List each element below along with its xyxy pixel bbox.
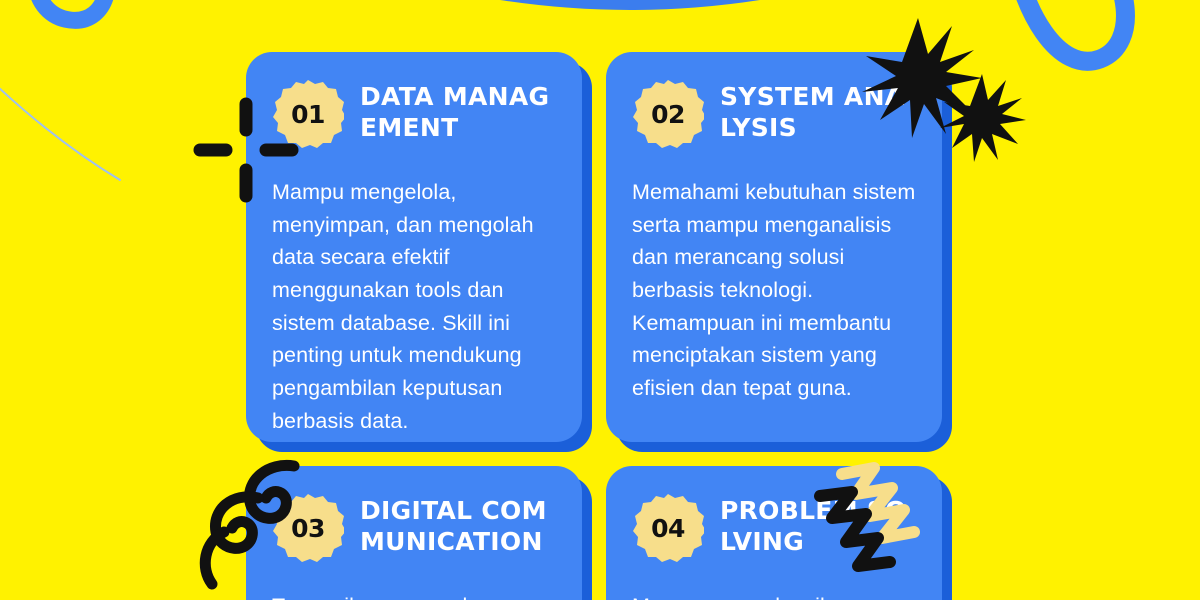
card-body-text: Terampil menggunakan — [272, 590, 556, 600]
number-badge: 02 — [632, 78, 704, 150]
card-number: 01 — [291, 100, 325, 129]
number-badge: 01 — [272, 78, 344, 150]
card-title: PROBLEM SOLVING — [720, 492, 916, 557]
skill-card-04[interactable]: 04 PROBLEM SOLVING Mampu menyelesaikan — [606, 466, 942, 600]
skill-card-03[interactable]: 03 DIGITAL COMMUNICATION Terampil menggu… — [246, 466, 582, 600]
card-header: 02 SYSTEM ANALYSIS — [632, 78, 916, 162]
thin-line-stroke-icon — [0, 30, 190, 190]
card-header: 01 DATA MANAGEMENT — [272, 78, 556, 162]
card-wrapper-03: 03 DIGITAL COMMUNICATION Terampil menggu… — [246, 466, 582, 600]
card-number: 02 — [651, 100, 685, 129]
number-badge: 03 — [272, 492, 344, 564]
card-body-text: Mampu menyelesaikan — [632, 590, 916, 600]
card-title: DATA MANAGEMENT — [360, 78, 556, 143]
card-wrapper-01: 01 DATA MANAGEMENT Mampu mengelola, meny… — [246, 52, 582, 442]
card-wrapper-02: 02 SYSTEM ANALYSIS Memahami kebutuhan si… — [606, 52, 942, 442]
card-wrapper-04: 04 PROBLEM SOLVING Mampu menyelesaikan — [606, 466, 942, 600]
card-number: 04 — [651, 514, 685, 543]
blue-squiggle-top-left-icon — [0, 0, 230, 140]
card-title: SYSTEM ANALYSIS — [720, 78, 916, 143]
card-header: 04 PROBLEM SOLVING — [632, 492, 916, 576]
card-body-text: Mampu mengelola, menyimpan, dan mengolah… — [272, 176, 556, 437]
card-body-text: Memahami kebutuhan sistem serta mampu me… — [632, 176, 916, 405]
blue-squiggle-top-right-icon — [990, 0, 1200, 104]
card-number: 03 — [291, 514, 325, 543]
skill-card-02[interactable]: 02 SYSTEM ANALYSIS Memahami kebutuhan si… — [606, 52, 942, 442]
card-header: 03 DIGITAL COMMUNICATION — [272, 492, 556, 576]
number-badge: 04 — [632, 492, 704, 564]
skills-card-grid: 01 DATA MANAGEMENT Mampu mengelola, meny… — [246, 52, 946, 600]
skill-card-01[interactable]: 01 DATA MANAGEMENT Mampu mengelola, meny… — [246, 52, 582, 442]
card-title: DIGITAL COMMUNICATION — [360, 492, 556, 557]
